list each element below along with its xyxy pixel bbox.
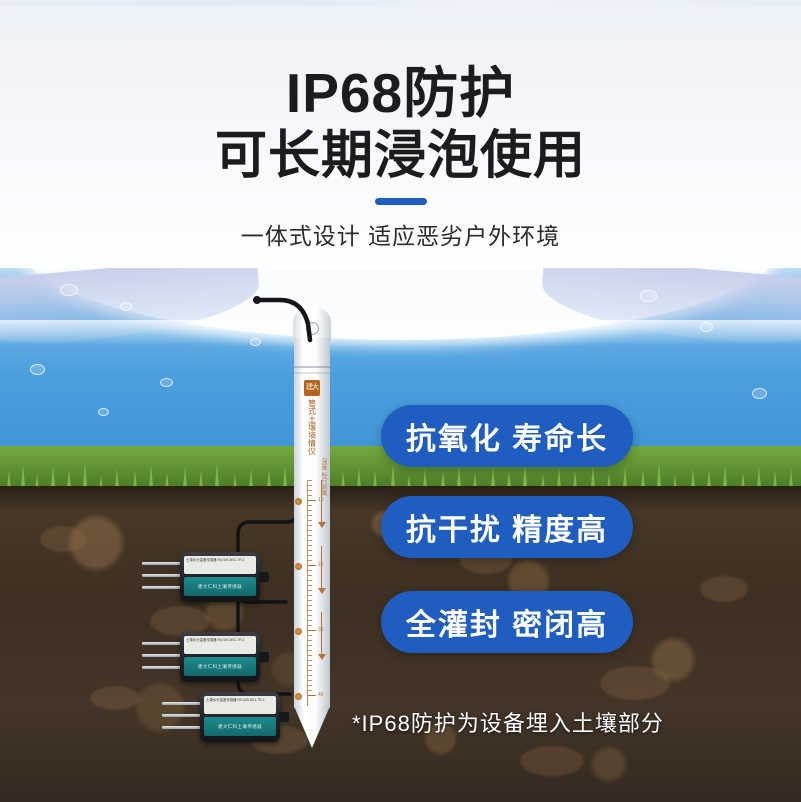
water-foam bbox=[0, 320, 801, 346]
badge-anti-interference[interactable]: 抗干扰 精度高 bbox=[381, 496, 633, 558]
sensor-sticker: 土壤水分温度传感器 RS-WS-N01-TR-1 bbox=[184, 636, 256, 654]
soil-sensor-3[interactable]: 土壤水分温度传感器 RS-WS-N01-TR-1 建大仁科土壤传感器 bbox=[162, 692, 280, 744]
depth-marker bbox=[291, 693, 305, 700]
badge-label: 抗氧化 寿命长 bbox=[406, 414, 608, 458]
sensor-connector bbox=[259, 652, 269, 662]
badge-full-potting[interactable]: 全灌封 密闭高 bbox=[381, 591, 633, 653]
sensor-sticker: 土壤水分温度传感器 RS-WS-N01-TR-1 bbox=[204, 696, 276, 714]
sensor-screen: 建大仁科土壤传感器 bbox=[184, 657, 256, 676]
soil-sensor-1[interactable]: 土壤水分温度传感器 RS-WS-N01-TR-1 建大仁科土壤传感器 bbox=[142, 552, 260, 604]
bubble bbox=[98, 408, 109, 416]
bubble bbox=[430, 328, 442, 337]
sensor-screen: 建大仁科土壤传感器 bbox=[184, 577, 256, 596]
bubble bbox=[752, 388, 767, 399]
accent-divider bbox=[375, 198, 427, 205]
badge-label: 全灌封 密闭高 bbox=[406, 600, 608, 644]
sensor-housing: 土壤水分温度传感器 RS-WS-N01-TR-1 建大仁科土壤传感器 bbox=[180, 552, 260, 602]
depth-marker bbox=[291, 563, 305, 570]
page-subtitle: 一体式设计 适应恶劣户外环境 bbox=[0, 217, 801, 251]
product-poster: 土壤水分温度传感器 RS-WS-N01-TR-1 建大仁科土壤传感器 土壤水分温… bbox=[0, 0, 801, 802]
sensor-housing: 土壤水分温度传感器 RS-WS-N01-TR-1 建大仁科土壤传感器 bbox=[180, 632, 260, 682]
probe-cable bbox=[250, 294, 340, 494]
sensor-sticker: 土壤水分温度传感器 RS-WS-N01-TR-1 bbox=[184, 556, 256, 574]
soil-sensor-2[interactable]: 土壤水分温度传感器 RS-WS-N01-TR-1 建大仁科土壤传感器 bbox=[142, 632, 260, 684]
bubble bbox=[120, 302, 132, 311]
depth-marker bbox=[291, 628, 305, 635]
depth-marker bbox=[291, 498, 305, 505]
sensor-connector bbox=[279, 712, 289, 722]
badge-anti-oxidation[interactable]: 抗氧化 寿命长 bbox=[381, 405, 633, 467]
bubble bbox=[30, 364, 45, 375]
depth-arrows bbox=[317, 480, 327, 706]
sensor-screen: 建大仁科土壤传感器 bbox=[204, 717, 276, 736]
header-text-block: IP68防护 可长期浸泡使用 一体式设计 适应恶劣户外环境 bbox=[0, 62, 801, 251]
bubble bbox=[60, 284, 78, 296]
bubble bbox=[700, 322, 713, 332]
sensor-connector bbox=[259, 572, 269, 582]
page-title-line1: IP68防护 bbox=[0, 62, 801, 124]
bubble bbox=[640, 290, 657, 302]
badge-label: 抗干扰 精度高 bbox=[406, 505, 608, 549]
bubble bbox=[160, 378, 173, 387]
footnote: *IP68防护为设备埋入土壤部分 bbox=[352, 706, 664, 738]
sensor-housing: 土壤水分温度传感器 RS-WS-N01-TR-1 建大仁科土壤传感器 bbox=[200, 692, 280, 742]
page-title-line2: 可长期浸泡使用 bbox=[0, 126, 801, 186]
